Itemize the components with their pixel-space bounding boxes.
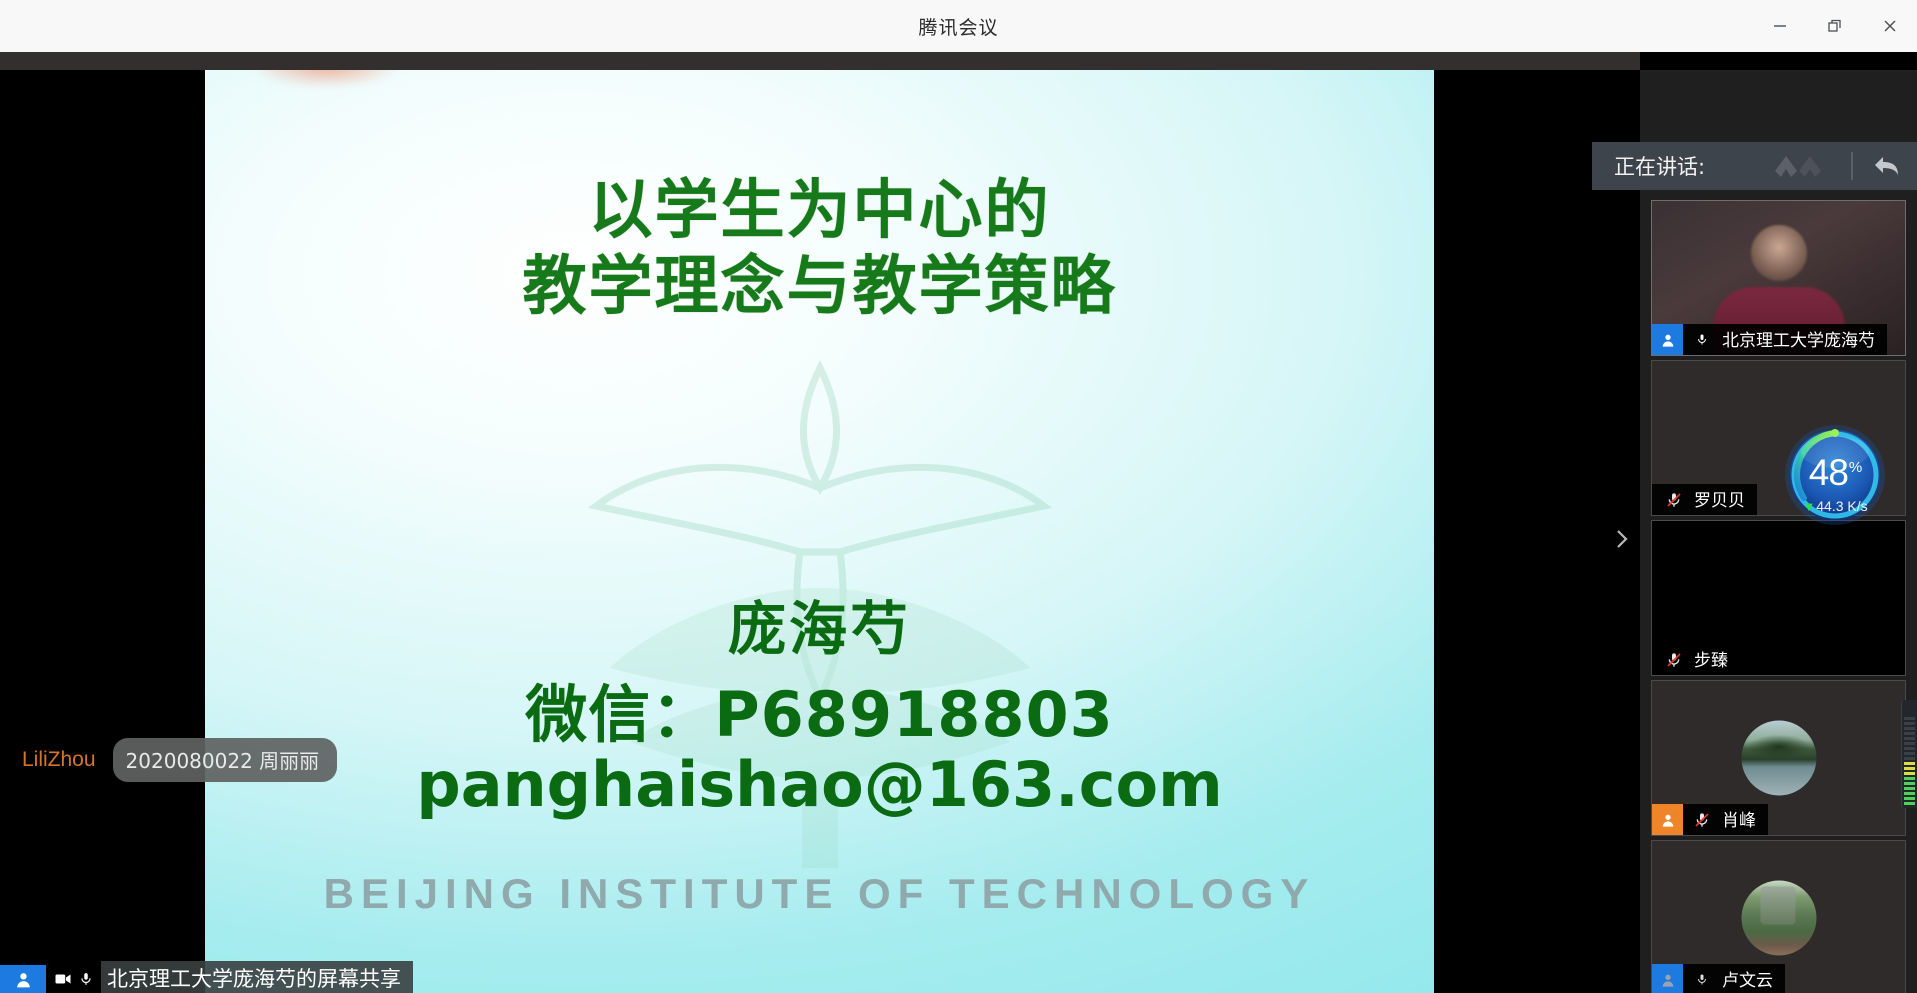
close-button[interactable] — [1862, 0, 1917, 52]
screen-share-bar: 北京理工大学庞海芍的屏幕共享 — [0, 965, 413, 993]
chat-overlay: LiliZhou 2020080022 周丽丽 — [22, 738, 337, 782]
level-segment — [1904, 787, 1915, 790]
chevron-right-icon — [1613, 524, 1631, 554]
microphone-muted-icon — [1666, 651, 1682, 669]
tencent-meeting-logo-icon — [1771, 149, 1833, 183]
slide-email-line: panghaishao@163.com — [205, 748, 1434, 821]
level-segment — [1904, 732, 1915, 735]
participant-tiles: 北京理工大学庞海芍 罗贝贝 — [1640, 200, 1917, 993]
person-icon — [14, 970, 33, 989]
share-user-badge — [0, 965, 46, 993]
speaking-bar-actions — [1771, 149, 1917, 183]
shared-screen-stage[interactable]: 以学生为中心的 教学理念与教学策略 庞海芍 微信：P68918803 pangh… — [0, 70, 1640, 993]
level-segment — [1904, 777, 1915, 780]
restore-button[interactable] — [1807, 0, 1862, 52]
window-controls — [1752, 0, 1917, 52]
slide-presenter-name: 庞海芍 — [205, 582, 1434, 666]
participant-badge — [1652, 804, 1683, 835]
level-segment — [1904, 747, 1915, 750]
participant-tile[interactable]: 卢文云 — [1651, 840, 1906, 993]
level-segment — [1904, 802, 1915, 805]
network-speed: ▼44.3 K/s — [1782, 498, 1888, 514]
video-head-shape — [1751, 225, 1807, 281]
network-speed-value: 44.3 K/s — [1816, 498, 1867, 514]
slide-wechat-line: 微信：P68918803 — [205, 664, 1434, 754]
toolbar-strip — [0, 52, 1640, 70]
microphone-icon — [79, 970, 93, 988]
participant-badge — [1652, 964, 1683, 993]
level-segment — [1904, 797, 1915, 800]
level-segment — [1904, 752, 1915, 755]
level-segment — [1904, 792, 1915, 795]
participant-tile[interactable]: 肖峰 — [1651, 680, 1906, 836]
minimize-icon — [1771, 17, 1789, 35]
page-title: 腾讯会议 — [918, 13, 998, 40]
download-arrow-icon: ▼ — [1802, 499, 1815, 514]
participant-name: 卢文云 — [1715, 966, 1785, 993]
network-percent: 48% — [1782, 452, 1888, 494]
share-status-text: 北京理工大学庞海芍的屏幕共享 — [101, 961, 413, 993]
participant-namebar: 步臻 — [1652, 644, 1740, 675]
avatar-photo-lake — [1741, 721, 1816, 796]
participant-name: 罗贝贝 — [1687, 486, 1757, 513]
meeting-window: 腾讯会议 — [0, 0, 1917, 993]
chat-message: 2020080022 周丽丽 — [113, 738, 338, 782]
slide-glow — [251, 70, 401, 88]
sidebar-collapse-button[interactable] — [1608, 515, 1636, 563]
now-speaking-label: 正在讲话: — [1614, 151, 1705, 181]
restore-icon — [1826, 17, 1844, 35]
participant-sidebar[interactable]: 北京理工大学庞海芍 罗贝贝 — [1640, 70, 1917, 993]
level-segment — [1904, 727, 1915, 730]
microphone-muted-icon — [1694, 811, 1710, 829]
level-segment — [1904, 722, 1915, 725]
participant-namebar: 北京理工大学庞海芍 — [1652, 324, 1887, 355]
mic-status-muted — [1661, 491, 1687, 509]
person-icon — [1660, 332, 1676, 348]
level-segment — [1904, 772, 1915, 775]
network-percent-unit: % — [1849, 459, 1861, 476]
toolbar-strip-right — [1640, 52, 1917, 70]
close-icon — [1881, 17, 1899, 35]
level-segment — [1904, 782, 1915, 785]
participant-name: 北京理工大学庞海芍 — [1715, 326, 1887, 353]
level-segment — [1904, 757, 1915, 760]
avatar — [1741, 721, 1816, 796]
level-segment — [1904, 717, 1915, 720]
slide-title-line1: 以学生为中心的 — [205, 174, 1434, 250]
share-status-icons — [46, 970, 101, 988]
divider — [1851, 152, 1853, 180]
minimize-button[interactable] — [1752, 0, 1807, 52]
microphone-icon — [1696, 971, 1708, 988]
participant-namebar: 卢文云 — [1652, 964, 1785, 993]
level-segment — [1904, 767, 1915, 770]
mic-status — [1689, 331, 1715, 348]
participant-name: 步臻 — [1687, 646, 1740, 673]
network-percent-value: 48 — [1809, 452, 1848, 493]
person-icon — [1660, 812, 1676, 828]
person-icon — [1660, 972, 1676, 988]
slide-title: 以学生为中心的 教学理念与教学策略 — [205, 174, 1434, 325]
now-speaking-bar: 正在讲话: — [1592, 142, 1917, 190]
participant-tile-speaker[interactable]: 北京理工大学庞海芍 — [1651, 200, 1906, 356]
microphone-muted-icon — [1666, 491, 1682, 509]
level-segment — [1904, 742, 1915, 745]
slide-title-line2: 教学理念与教学策略 — [205, 250, 1434, 326]
chat-username: LiliZhou — [22, 748, 96, 772]
participant-badge — [1652, 324, 1683, 355]
participant-namebar: 罗贝贝 — [1652, 484, 1757, 515]
mic-status — [1689, 971, 1715, 988]
video-camera-icon — [54, 970, 72, 988]
presentation-slide: 以学生为中心的 教学理念与教学策略 庞海芍 微信：P68918803 pangh… — [205, 70, 1434, 993]
avatar — [1741, 881, 1816, 956]
participant-namebar: 肖峰 — [1652, 804, 1768, 835]
mic-status-muted — [1661, 651, 1687, 669]
slide-footer-text: BEIJING INSTITUTE OF TECHNOLOGY — [205, 870, 1434, 918]
network-status-widget[interactable]: 48% ▼44.3 K/s — [1782, 422, 1888, 528]
avatar-photo-greatwall — [1741, 881, 1816, 956]
participant-name: 肖峰 — [1715, 806, 1768, 833]
title-bar: 腾讯会议 — [0, 0, 1917, 52]
return-arrow-icon[interactable] — [1871, 153, 1901, 179]
audio-level-meter[interactable] — [1901, 700, 1917, 808]
microphone-icon — [1696, 331, 1708, 348]
level-segment — [1904, 737, 1915, 740]
level-segment — [1904, 762, 1915, 765]
participant-tile[interactable]: 步臻 — [1651, 520, 1906, 676]
mic-status-muted — [1689, 811, 1715, 829]
